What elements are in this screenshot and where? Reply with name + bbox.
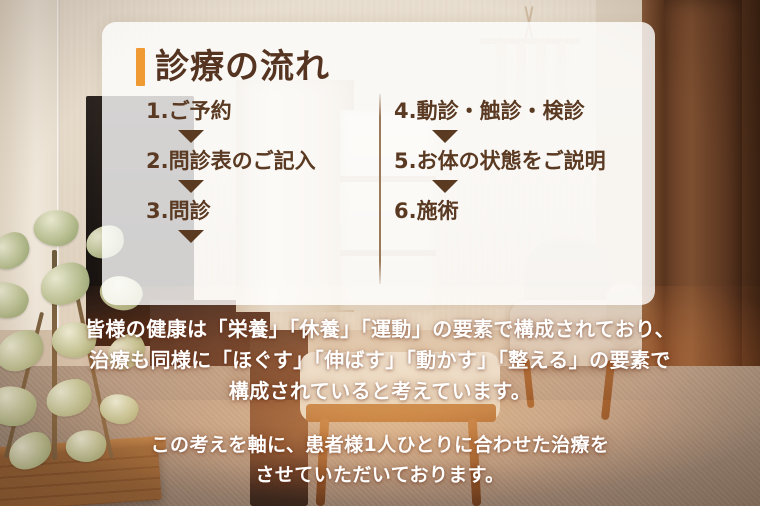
paragraph-line: 皆様の健康は「栄養」「休養」「運動」の要素で構成されており、 [0,314,760,345]
down-triangle-icon [432,180,458,193]
paragraph-line: 治療も同様に「ほぐす」「伸ばす」「動かす」「整える」の要素で [0,345,760,376]
down-triangle-icon [178,130,204,143]
steps-column-left: 1.ご予約 2.問診表のご記入 3.問診 [128,100,368,250]
paragraph-philosophy: 皆様の健康は「栄養」「休養」「運動」の要素で構成されており、 治療も同様に「ほぐ… [0,314,760,407]
paragraph-commitment: この考えを軸に、患者様1人ひとりに合わせた治療を させていただいております。 [0,430,760,491]
step-item: 2.問診表のご記入 [146,150,368,173]
title-accent-bar [136,48,145,86]
column-divider [379,94,381,284]
promo-banner: 診療の流れ 1.ご予約 2.問診表のご記入 3.問診 4.動診・触診・検診 5.… [0,0,760,506]
flow-card: 診療の流れ 1.ご予約 2.問診表のご記入 3.問診 4.動診・触診・検診 5.… [102,22,655,305]
page-title: 診療の流れ [155,50,330,84]
paragraph-line: この考えを軸に、患者様1人ひとりに合わせた治療を [0,430,760,460]
step-item: 3.問診 [146,200,368,223]
down-triangle-icon [178,180,204,193]
steps-columns: 1.ご予約 2.問診表のご記入 3.問診 4.動診・触診・検診 5.お体の状態を… [128,100,629,250]
down-triangle-icon [178,230,204,243]
card-title-row: 診療の流れ [136,48,629,86]
step-item: 6.施術 [394,200,674,223]
paragraph-line: 構成されていると考えています。 [0,376,760,407]
step-item: 5.お体の状態をご説明 [394,150,674,173]
paragraph-line: させていただいております。 [0,460,760,490]
down-triangle-icon [432,130,458,143]
step-item: 1.ご予約 [146,100,368,123]
steps-column-right: 4.動診・触診・検診 5.お体の状態をご説明 6.施術 [368,100,674,250]
step-item: 4.動診・触診・検診 [394,100,674,123]
